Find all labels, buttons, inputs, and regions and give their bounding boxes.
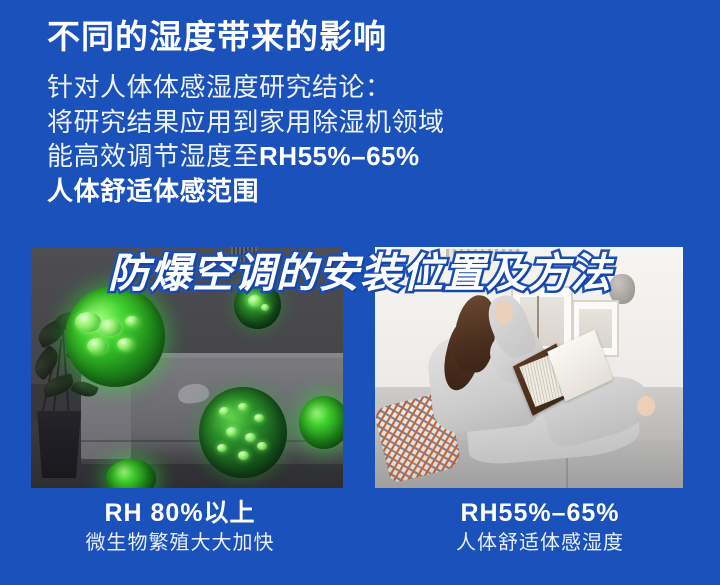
poster-root: 不同的湿度带来的影响 针对人体体感湿度研究结论： 将研究结果应用到家用除湿机领域… <box>0 0 720 585</box>
caption-left-main: RH 80%以上 <box>0 498 360 529</box>
caption-left-sub: 微生物繁殖大大加快 <box>0 529 360 557</box>
caption-right: RH55%–65% 人体舒适体感湿度 <box>360 498 720 578</box>
microbe-spike <box>238 451 249 460</box>
caption-left: RH 80%以上 微生物繁殖大大加快 <box>0 498 360 578</box>
heading-block: 不同的湿度带来的影响 针对人体体感湿度研究结论： 将研究结果应用到家用除湿机领域… <box>47 16 687 209</box>
microbe-spike <box>99 319 121 336</box>
body-text-list: 针对人体体感湿度研究结论： 将研究结果应用到家用除湿机领域 能高效调节湿度至RH… <box>47 70 687 208</box>
microbe-spike <box>254 414 264 422</box>
microbe-spike <box>117 338 134 351</box>
microbe-spike <box>219 407 230 416</box>
plant-pot <box>34 411 84 478</box>
microbe-spike <box>261 304 269 311</box>
body-line-3-strong: RH55%–65% <box>259 141 420 171</box>
microbe-spike <box>245 433 256 442</box>
woman-foot <box>637 396 655 415</box>
microbe-spike <box>87 338 107 354</box>
microbe-small-right <box>299 396 343 449</box>
microbe-spike <box>217 444 227 452</box>
microbe-spike <box>125 316 139 327</box>
body-line-3-plain: 能高效调节湿度至 <box>47 141 259 171</box>
overlay-headline: 防爆空调的安装位置及方法 <box>0 252 720 296</box>
microbe-spike <box>248 295 262 307</box>
microbe-cluster-bottom <box>199 387 286 479</box>
microbe-cluster-large <box>65 286 165 387</box>
body-line-2: 将研究结果应用到家用除湿机领域 <box>47 105 687 140</box>
caption-right-sub: 人体舒适体感湿度 <box>360 529 720 557</box>
caption-row: RH 80%以上 微生物繁殖大大加快 RH55%–65% 人体舒适体感湿度 <box>0 498 720 578</box>
body-line-1: 针对人体体感湿度研究结论： <box>47 70 687 105</box>
microbe-small-floor <box>106 459 156 488</box>
microbe-spike <box>75 312 101 332</box>
page-title: 不同的湿度带来的影响 <box>47 16 687 58</box>
microbe-spike <box>238 403 248 411</box>
microbe-spike <box>226 427 238 437</box>
caption-right-main: RH55%–65% <box>360 498 720 529</box>
microbe-spike <box>257 442 267 450</box>
body-line-3: 能高效调节湿度至RH55%–65% <box>47 139 687 174</box>
body-line-4: 人体舒适体感范围 <box>47 174 687 209</box>
